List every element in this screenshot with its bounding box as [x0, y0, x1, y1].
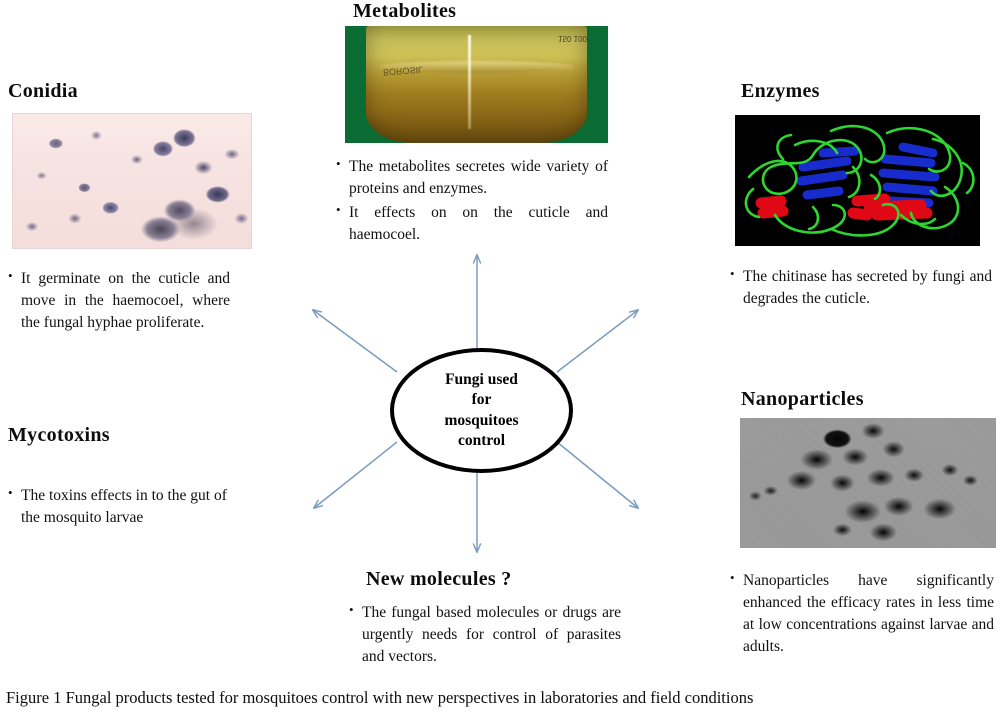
section-mycotoxins: Mycotoxins — [8, 424, 256, 447]
chitinase-protein-structure — [735, 115, 980, 246]
new-molecules-bullets: The fungal based molecules or drugs are … — [349, 602, 621, 670]
list-item: The fungal based molecules or drugs are … — [349, 602, 621, 668]
list-item: Nanoparticles have significantly enhance… — [730, 570, 994, 658]
list-item: It germinate on the cuticle and move in … — [8, 268, 230, 334]
metabolites-title: Metabolites — [353, 0, 613, 23]
metabolites-flask-photo: 150 100 BOROSIL — [345, 26, 608, 143]
central-node-label: Fungi used for mosquitoes control — [444, 370, 518, 452]
nanoparticles-tem-image — [740, 418, 996, 548]
protein-ribbon-graphic — [735, 115, 980, 246]
nanoparticles-bullets: Nanoparticles have significantly enhance… — [730, 570, 994, 660]
arrow-lower-right — [557, 442, 638, 508]
flask-brand-label: BOROSIL — [381, 32, 489, 79]
section-enzymes: Enzymes — [741, 80, 991, 103]
figure-caption: Figure 1 Fungal products tested for mosq… — [6, 688, 753, 708]
arrow-upper-right — [557, 310, 638, 372]
conidia-bullets: It germinate on the cuticle and move in … — [8, 268, 230, 336]
list-item: The chitinase has secreted by fungi and … — [730, 266, 992, 310]
section-nanoparticles: Nanoparticles — [741, 388, 991, 411]
list-item: The metabolites secretes wide variety of… — [336, 156, 608, 200]
new-molecules-title: New molecules ? — [366, 568, 626, 591]
flask-graduation-marks: 150 100 — [558, 31, 587, 46]
mycotoxins-title: Mycotoxins — [8, 424, 256, 447]
enzymes-title: Enzymes — [741, 80, 991, 103]
section-new-molecules: New molecules ? — [366, 568, 626, 591]
conidia-micrograph — [12, 113, 252, 249]
section-metabolites: Metabolites — [353, 0, 613, 23]
conidia-title: Conidia — [8, 80, 256, 103]
list-item: The toxins effects in to the gut of the … — [8, 485, 233, 529]
mycotoxins-bullets: The toxins effects in to the gut of the … — [8, 485, 233, 531]
central-node: Fungi used for mosquitoes control — [390, 348, 573, 473]
metabolites-bullets: The metabolites secretes wide variety of… — [336, 156, 608, 248]
arrow-lower-left — [314, 442, 397, 508]
nanoparticles-title: Nanoparticles — [741, 388, 991, 411]
section-conidia: Conidia — [8, 80, 256, 103]
list-item: It effects on on the cuticle and haemoco… — [336, 202, 608, 246]
arrow-upper-left — [313, 310, 397, 372]
enzymes-bullets: The chitinase has secreted by fungi and … — [730, 266, 992, 312]
